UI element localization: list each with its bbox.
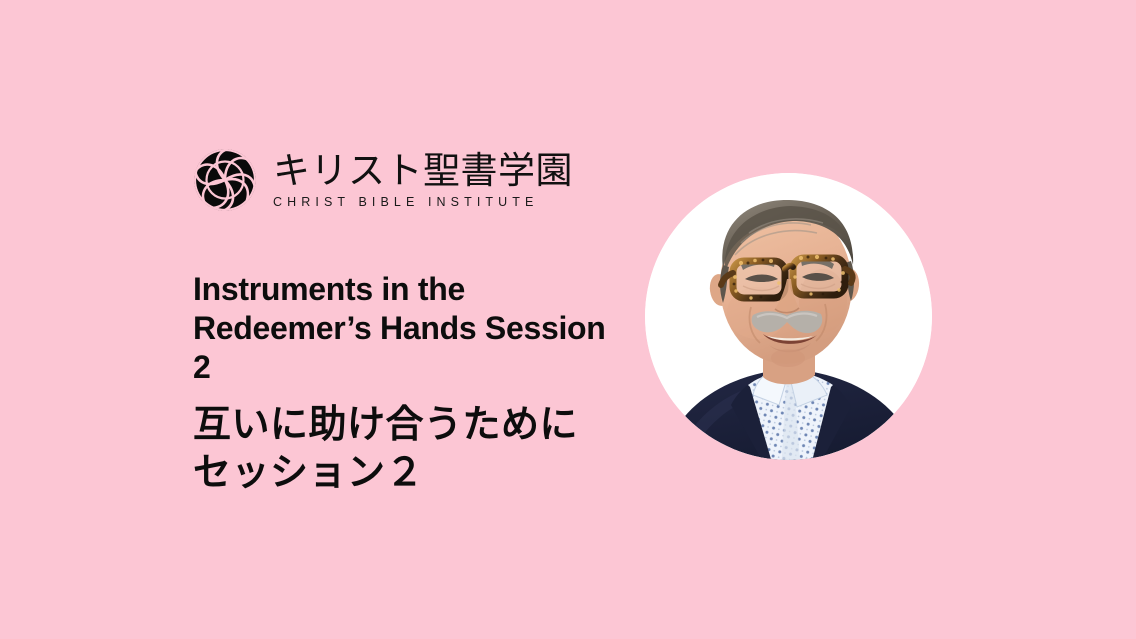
english-title: Instruments in the Redeemer’s Hands Sess…	[193, 270, 623, 387]
rosette-knot-logo-icon	[193, 148, 257, 212]
logo-wordmark: キリスト聖書学園 CHRIST BIBLE INSTITUTE	[273, 148, 573, 210]
english-title-line-2: Redeemer’s Hands	[193, 310, 476, 346]
presentation-slide: キリスト聖書学園 CHRIST BIBLE INSTITUTE Instrume…	[0, 0, 1136, 639]
logo-japanese-name: キリスト聖書学園	[273, 150, 573, 192]
speaker-portrait	[645, 173, 932, 460]
english-title-line-1: Instruments in the	[193, 271, 465, 307]
japanese-title: 互いに助け合うために セッション２	[193, 400, 623, 496]
speaker-portrait-image	[645, 173, 932, 460]
logo-english-name: CHRIST BIBLE INSTITUTE	[273, 195, 573, 210]
japanese-title-line-1: 互いに助け合うために	[193, 400, 623, 448]
institute-logo-lockup: キリスト聖書学園 CHRIST BIBLE INSTITUTE	[193, 148, 573, 212]
title-block: Instruments in the Redeemer’s Hands Sess…	[193, 270, 623, 496]
japanese-title-line-2: セッション２	[193, 448, 623, 496]
